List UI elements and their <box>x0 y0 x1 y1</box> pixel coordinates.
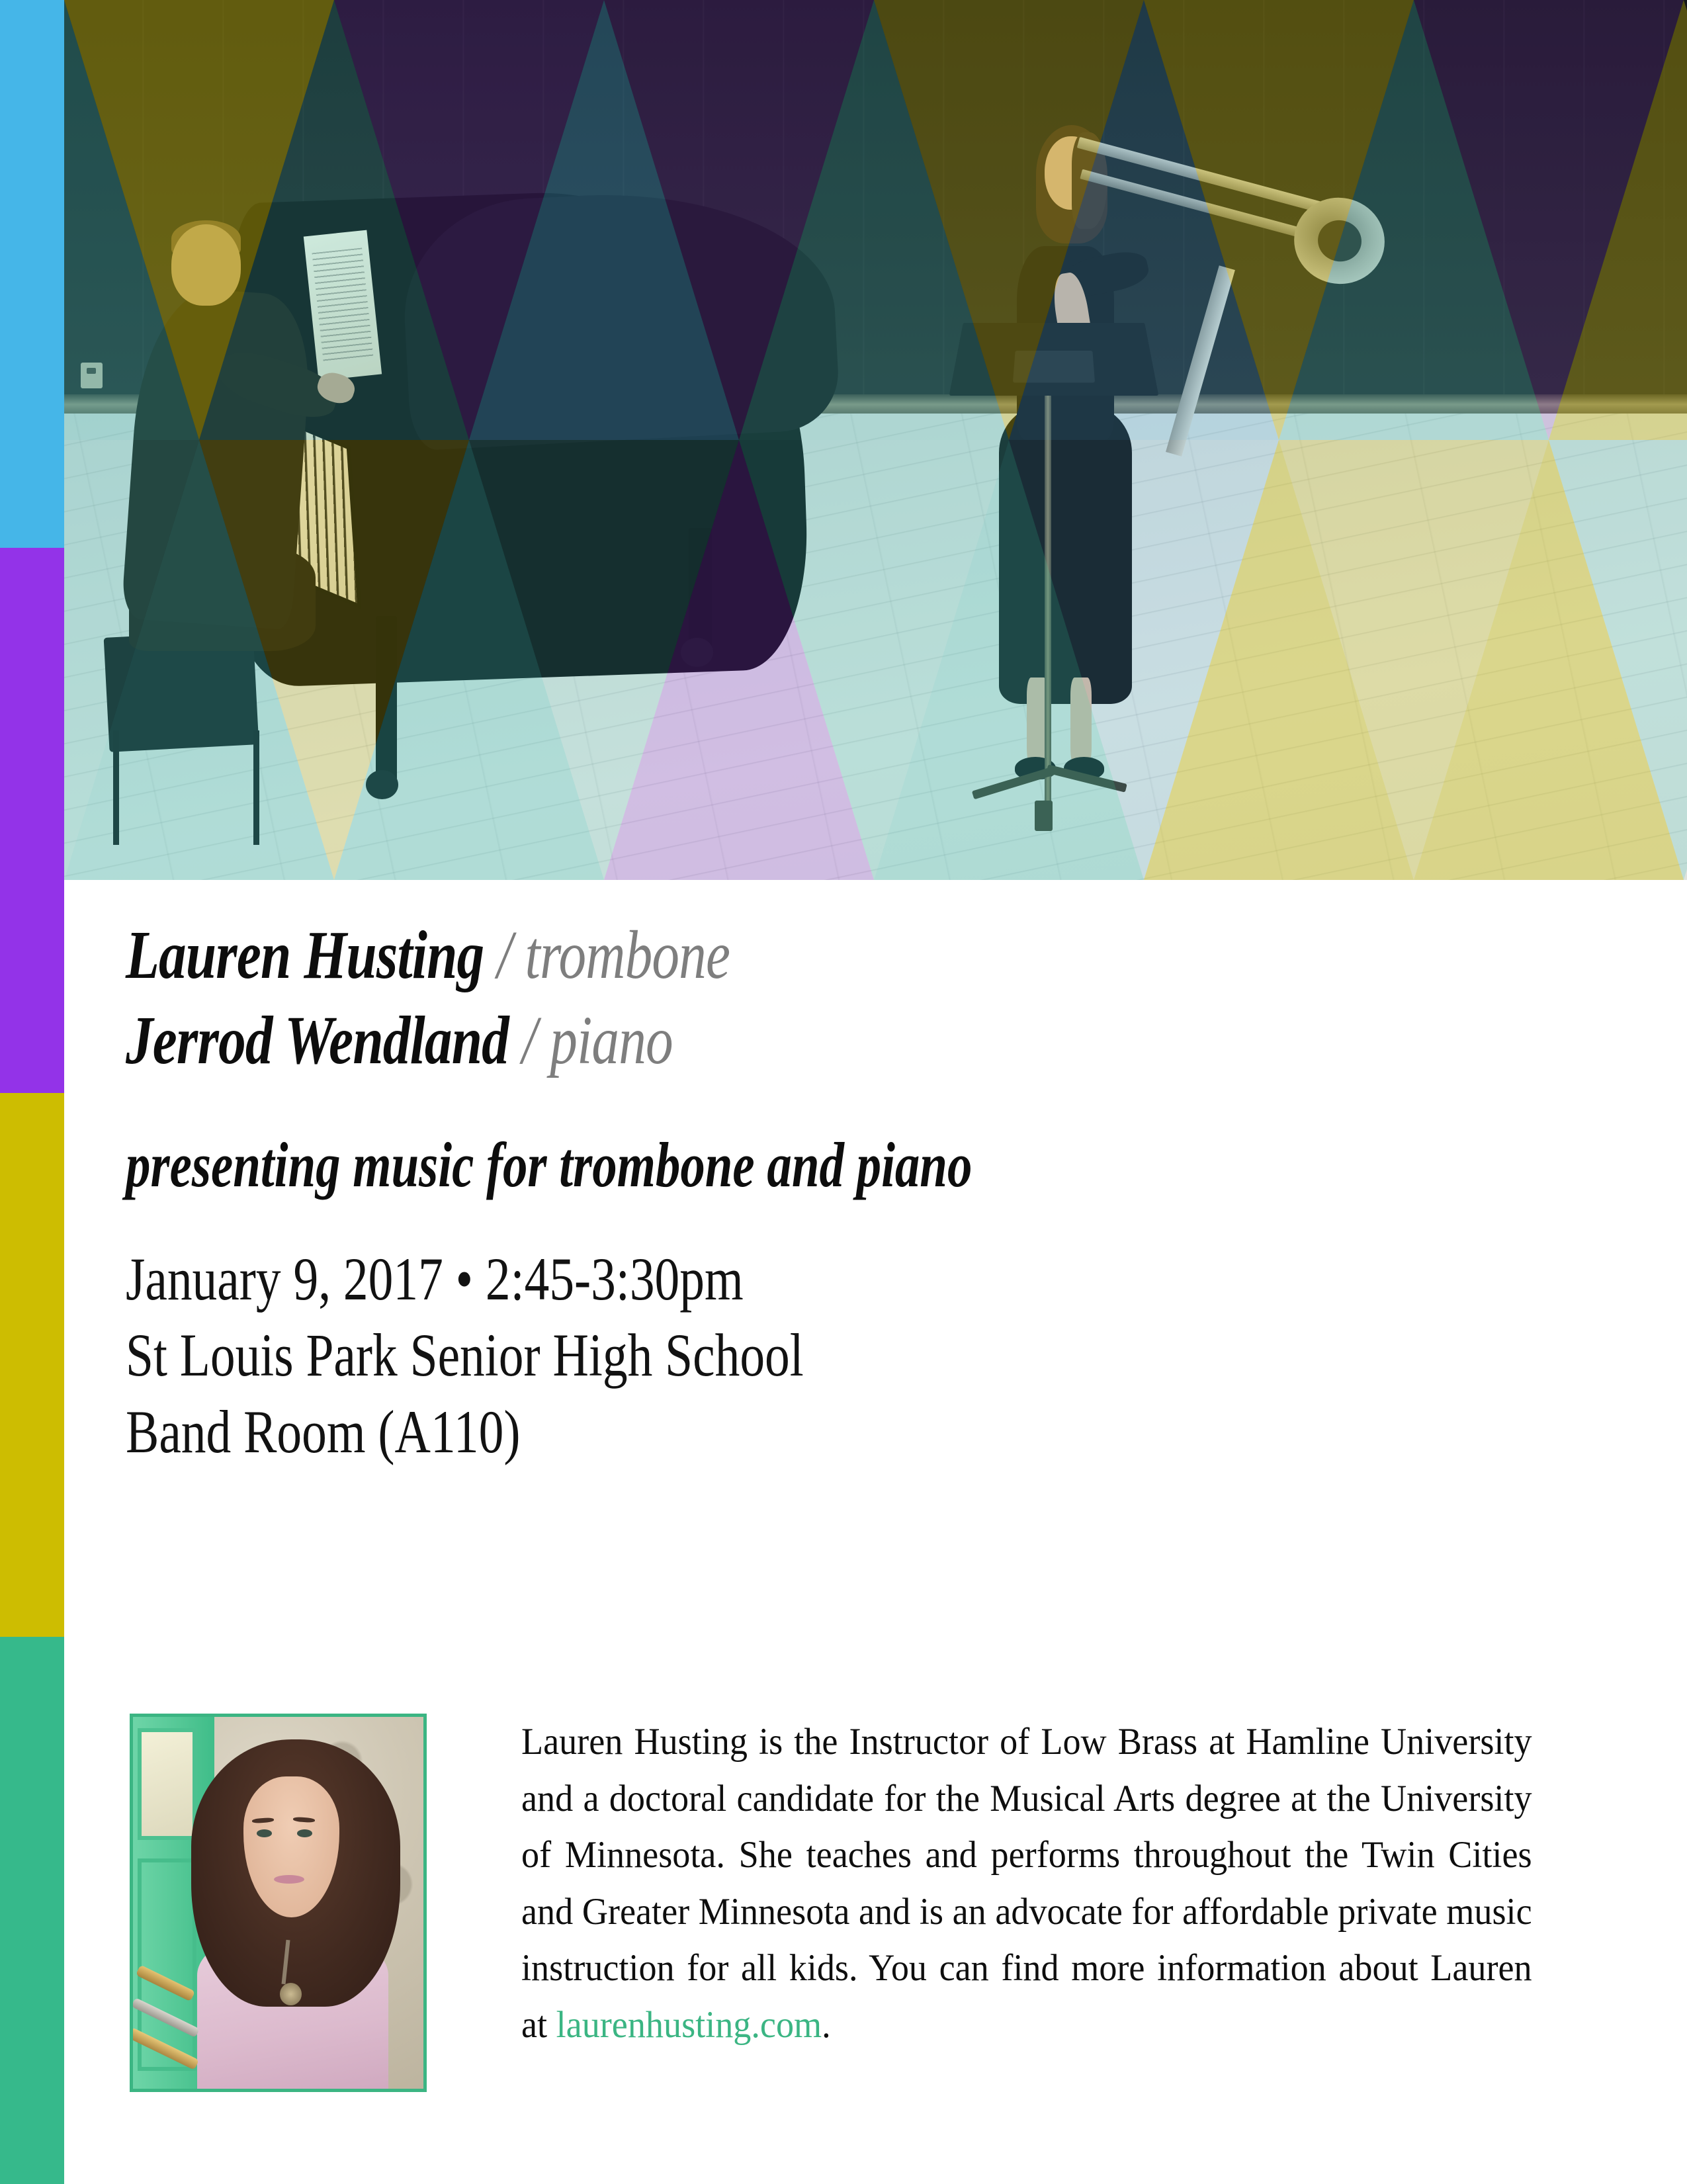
performer-2-separator <box>509 1002 522 1078</box>
event-details: January 9, 2017 • 2:45-3:30pm St Louis P… <box>126 1241 1324 1471</box>
performer-2-slash: / <box>522 1002 537 1078</box>
laurenhusting-website-link[interactable]: laurenhusting.com <box>556 2004 822 2046</box>
headshot-eye-left <box>257 1829 272 1837</box>
rail-segment-teal <box>0 1637 64 2184</box>
overlay-triangle-25 <box>1549 440 1687 880</box>
headshot-lips <box>274 1875 304 1884</box>
performer-1-role-space <box>512 917 525 993</box>
left-color-rail <box>0 0 64 2184</box>
bio-paragraph: Lauren Husting is the Instructor of Low … <box>521 1714 1532 2053</box>
bio-text-after-link: . <box>822 2004 831 2046</box>
performer-2-role-space <box>537 1002 550 1078</box>
performer-1-role: trombone <box>525 917 730 993</box>
headshot-door-window <box>138 1728 196 1840</box>
rail-segment-yellow <box>0 1093 64 1637</box>
performer-1-separator <box>484 917 497 993</box>
poster-text-block: Lauren Husting / trombone Jerrod Wendlan… <box>126 913 1588 1471</box>
performer-line-2: Jerrod Wendland / piano <box>126 998 1295 1084</box>
hero-performance-photo <box>64 0 1687 880</box>
performer-1-slash: / <box>497 917 511 993</box>
rail-segment-purple <box>0 548 64 1093</box>
event-venue: St Louis Park Senior High School <box>126 1317 1324 1394</box>
overlay-triangle-12 <box>1549 0 1687 440</box>
triangle-pattern-overlay <box>64 0 1687 880</box>
rail-segment-blue <box>0 0 64 548</box>
event-date-time: January 9, 2017 • 2:45-3:30pm <box>126 1241 1324 1318</box>
poster-tagline: presenting music for trombone and piano <box>126 1130 1266 1200</box>
headshot-trombone-tube-top <box>136 1964 195 2001</box>
event-room: Band Room (A110) <box>126 1394 1324 1471</box>
bio-section: Lauren Husting is the Instructor of Low … <box>130 1714 1585 2092</box>
bio-text-before-link: Lauren Husting is the Instructor of Low … <box>521 1721 1532 2046</box>
performer-2-role: piano <box>550 1002 673 1078</box>
headshot-eye-right <box>297 1829 312 1837</box>
headshot-necklace-pendant <box>280 1983 302 2005</box>
performer-1-name: Lauren Husting <box>126 917 484 993</box>
headshot-trombone <box>133 1970 220 2092</box>
performer-2-name: Jerrod Wendland <box>126 1002 509 1078</box>
performer-line-1: Lauren Husting / trombone <box>126 913 1295 998</box>
headshot-photo <box>130 1714 427 2092</box>
